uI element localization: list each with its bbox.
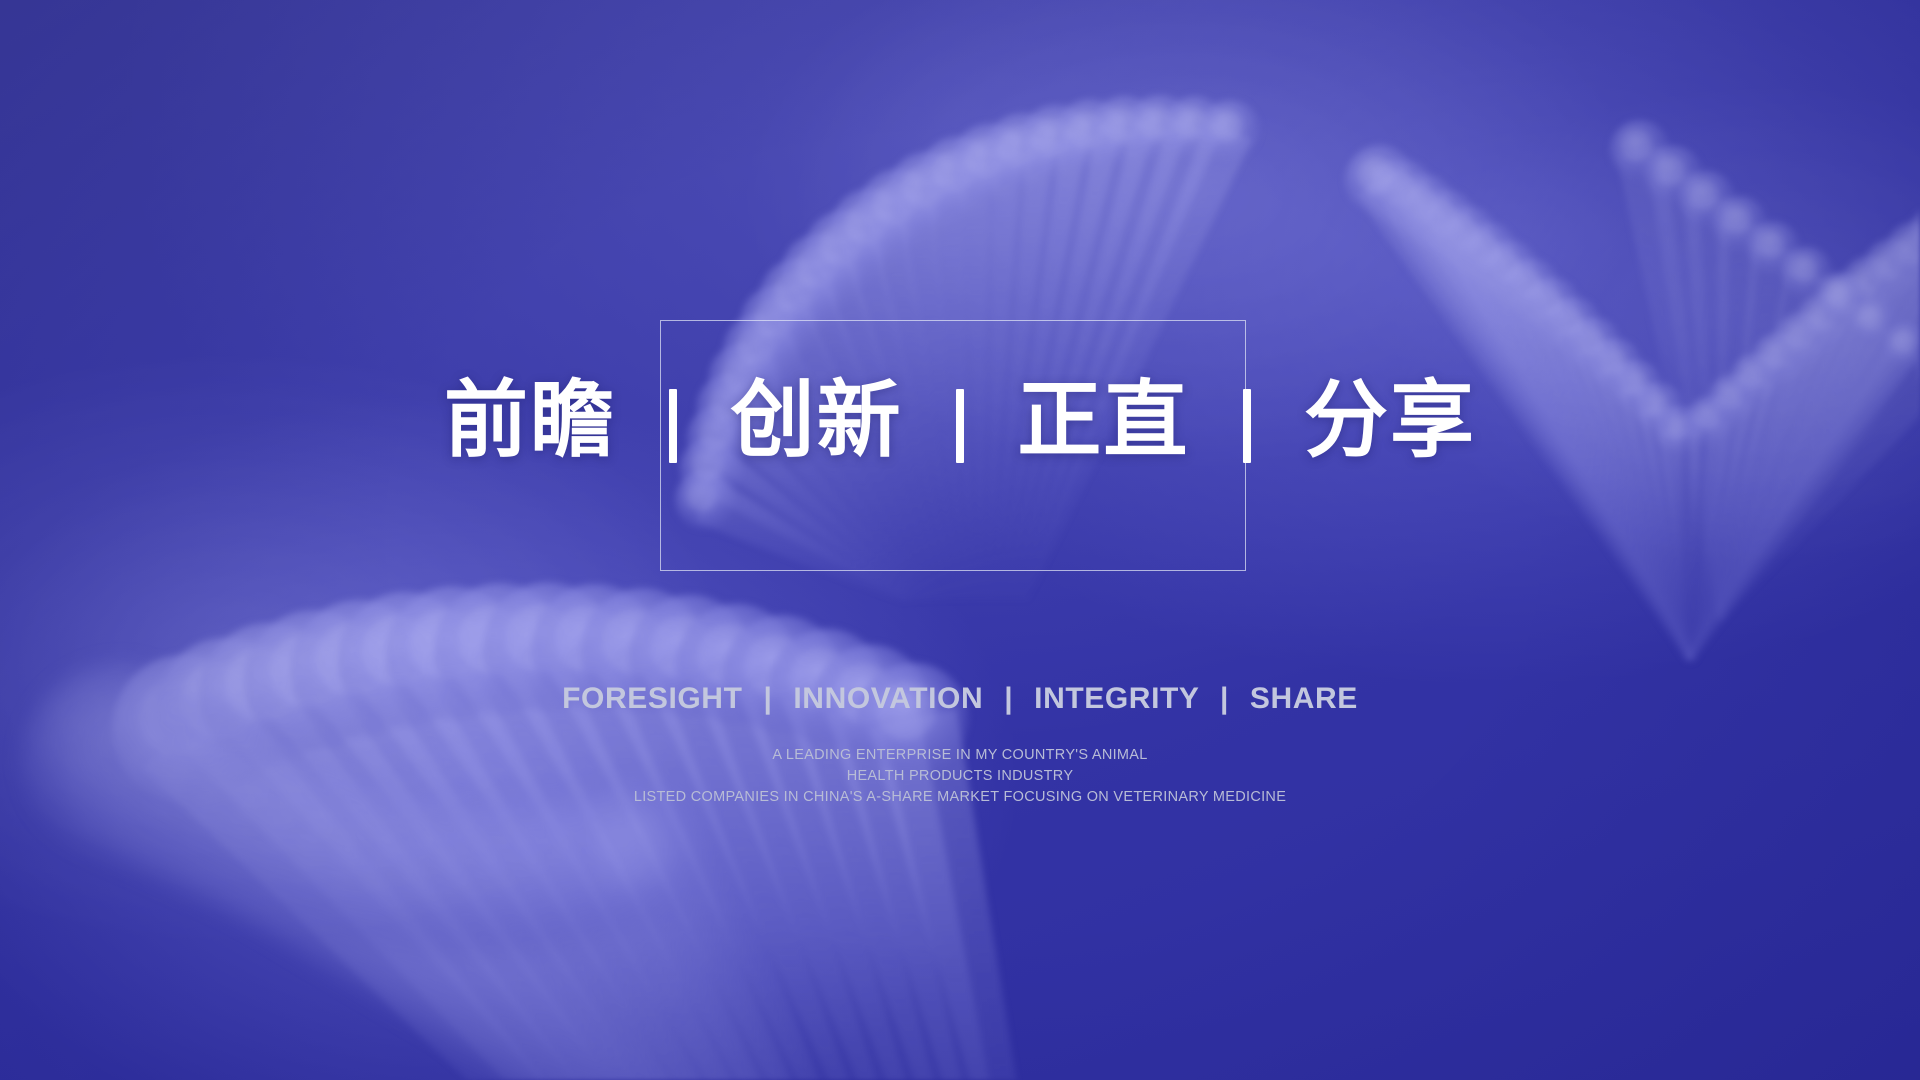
- headline-word-4: 分享: [1304, 378, 1476, 462]
- tagline-divider-1: |: [763, 682, 772, 715]
- dna-helix-background-art: [0, 0, 1920, 1080]
- headline-word-1: 前瞻: [444, 378, 616, 462]
- headline-divider-1: [669, 389, 677, 463]
- headline-slogan-chinese: 前瞻 创新 正直 分享: [0, 378, 1920, 463]
- description-line-2: HEALTH PRODUCTS INDUSTRY: [0, 766, 1920, 787]
- headline-divider-3: [1243, 389, 1251, 463]
- company-description: A LEADING ENTERPRISE IN MY COUNTRY'S ANI…: [0, 745, 1920, 808]
- headline-divider-2: [956, 389, 964, 463]
- headline-word-2: 创新: [731, 378, 903, 462]
- tagline-word-3: INTEGRITY: [1034, 682, 1199, 715]
- description-line-3: LISTED COMPANIES IN CHINA'S A-SHARE MARK…: [0, 787, 1920, 808]
- headline-word-3: 正直: [1017, 378, 1189, 462]
- tagline-slogan-english: FORESIGHT | INNOVATION | INTEGRITY | SHA…: [0, 682, 1920, 716]
- tagline-word-2: INNOVATION: [793, 682, 983, 715]
- tagline-divider-3: |: [1220, 682, 1229, 715]
- description-line-1: A LEADING ENTERPRISE IN MY COUNTRY'S ANI…: [0, 745, 1920, 766]
- slide-canvas: 前瞻 创新 正直 分享 FORESIGHT | INNOVATION | INT…: [0, 0, 1920, 1080]
- tagline-divider-2: |: [1004, 682, 1013, 715]
- tagline-word-4: SHARE: [1250, 682, 1358, 715]
- tagline-word-1: FORESIGHT: [562, 682, 742, 715]
